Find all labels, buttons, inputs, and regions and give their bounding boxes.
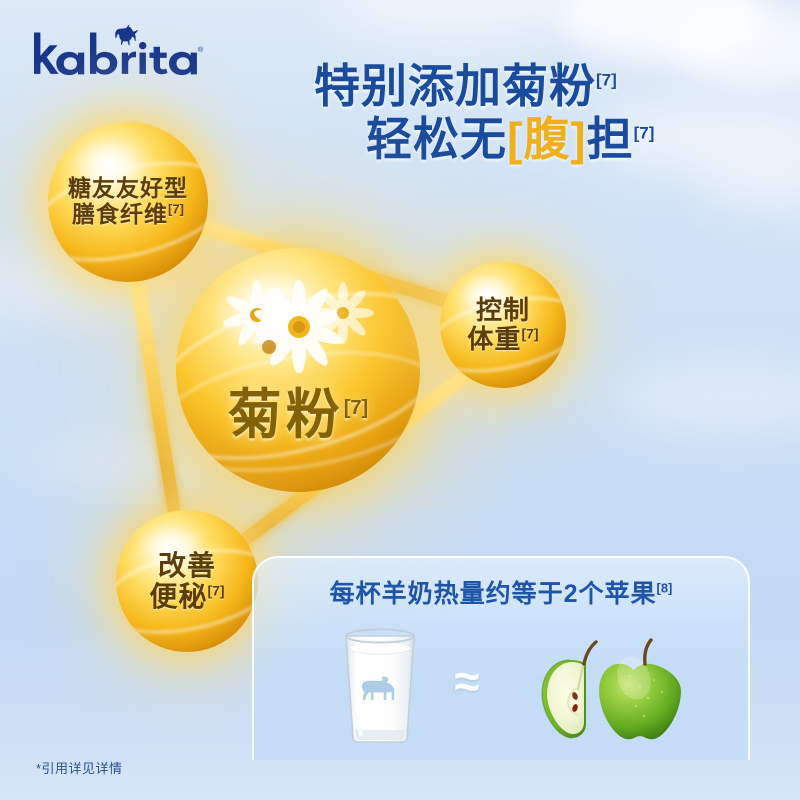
goat-icon [115,25,137,46]
bubble-label-superscript: [7] [521,325,538,341]
bubble-node-constipation-label: 改善 便秘[7] [116,510,258,652]
bubble-label-line-2: 膳食纤维 [72,201,168,227]
headline-line-2-suffix: 担 [587,113,634,165]
bubble-label-superscript: [7] [207,583,224,599]
card-title-superscript: [8] [657,581,673,596]
brand-logo[interactable]: ® [26,18,206,88]
milk-glass-with-goat-icon [332,626,428,744]
bubble-node-fiber[interactable]: 糖友友好型 膳食纤维[7] [48,122,208,282]
bubble-label-line-2-wrap: 膳食纤维[7] [72,202,184,228]
headline-line-2-highlight: [腹] [507,113,587,165]
cloud-decoration [556,0,766,62]
headline-line-1-superscript: [7] [596,71,617,90]
center-bubble-label-text: 菊粉 [228,385,344,445]
halved-apple [542,642,596,738]
center-bubble-label: 菊粉[7] [176,370,420,449]
bubble-label-line-1: 控制 [476,296,530,325]
bubble-label-line-2: 便秘 [149,581,207,612]
bubble-node-weight-label: 控制 体重[7] [440,262,566,388]
whole-apple [599,640,681,739]
chrysanthemum-flower-icon [213,269,383,373]
headline-line-2: 轻松无[腹]担[7] [300,114,780,166]
equivalence-illustration: ≈ [254,620,748,752]
bubble-node-fiber-label: 糖友友好型 膳食纤维[7] [48,122,208,282]
calorie-comparison-card: 每杯羊奶热量约等于2个苹果[8] [252,556,750,760]
bubble-label-line-2: 体重 [467,324,521,354]
card-title: 每杯羊奶热量约等于2个苹果[8] [254,574,748,610]
approximately-equal-symbol: ≈ [432,658,502,704]
center-bubble-superscript: [7] [344,397,368,419]
promo-banner: ® 特别添加菊粉[7] 轻松无[腹]担[7] [0,0,800,800]
cloud-decoration [330,0,580,40]
bubble-label-superscript: [7] [168,201,184,216]
bubble-label-line-1: 改善 [158,550,216,581]
green-apples-icon [512,620,692,748]
headline-line-2-superscript: [7] [634,124,655,143]
bubble-label-line-1: 糖友友好型 [68,176,188,202]
footnote: *引用详见详情 [36,758,123,777]
headline-line-1: 特别添加菊粉[7] [300,62,780,110]
bubble-node-constipation[interactable]: 改善 便秘[7] [116,510,258,652]
bubble-label-line-2-wrap: 便秘[7] [149,581,224,612]
headline-line-2-prefix: 轻松无 [366,113,507,165]
headline-line-1-text: 特别添加菊粉 [314,60,596,112]
bubble-node-weight[interactable]: 控制 体重[7] [440,262,566,388]
headline: 特别添加菊粉[7] 轻松无[腹]担[7] [300,62,780,166]
cloud-decoration [610,360,800,438]
bubble-label-line-2-wrap: 体重[7] [467,325,538,354]
registered-mark: ® [198,46,204,54]
card-title-text: 每杯羊奶热量约等于2个苹果 [330,580,657,608]
center-bubble-inulin[interactable]: 菊粉[7] [176,248,420,492]
